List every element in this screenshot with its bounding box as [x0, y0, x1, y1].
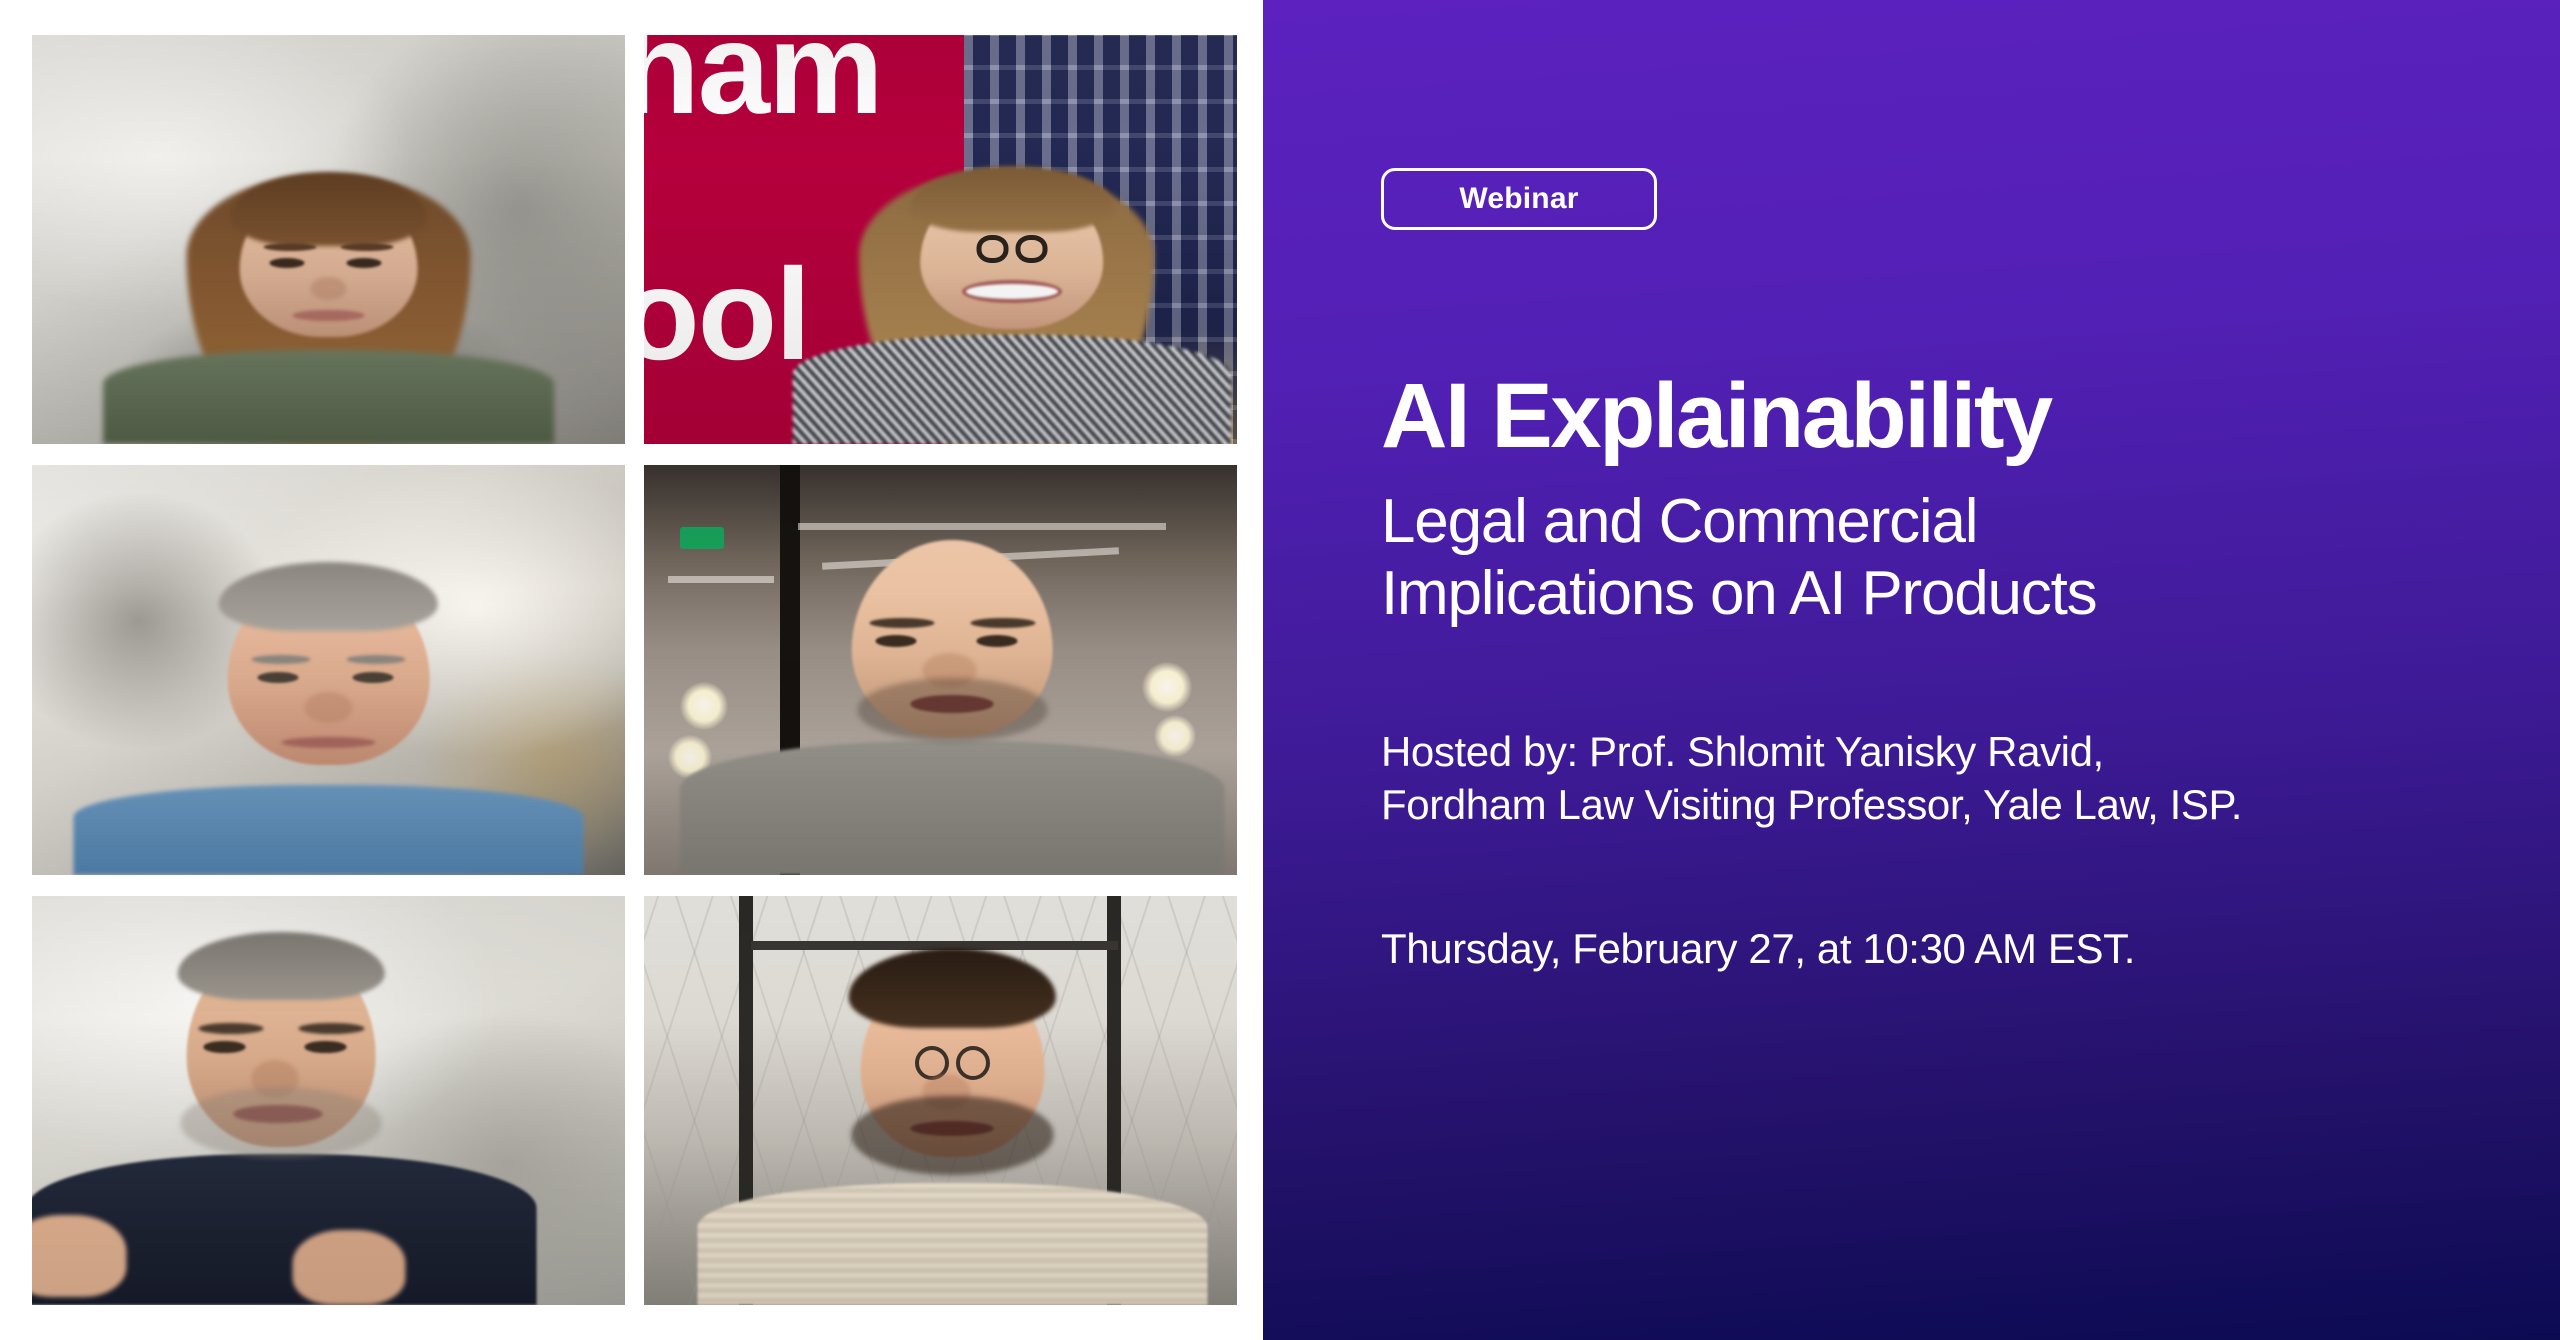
- torso: [680, 741, 1226, 875]
- brow-left: [251, 655, 310, 664]
- hair-top: [849, 948, 1057, 1027]
- beard: [857, 678, 1047, 741]
- webinar-badge[interactable]: Webinar: [1381, 168, 1657, 230]
- tile-1-participant: [32, 109, 625, 445]
- hair-top: [219, 562, 438, 631]
- video-tile-6[interactable]: [644, 896, 1237, 1305]
- video-tile-1[interactable]: [32, 35, 625, 444]
- video-grid: ham ool: [32, 35, 1237, 1305]
- tile-5-participant: [32, 928, 578, 1305]
- event-title: AI Explainability: [1381, 370, 2460, 462]
- host-info: Hosted by: Prof. Shlomit Yanisky Ravid, …: [1381, 726, 2460, 832]
- video-tile-5[interactable]: [32, 896, 625, 1305]
- lens-left: [976, 235, 1008, 263]
- eye-left: [875, 635, 917, 647]
- eye-left: [257, 672, 299, 683]
- hair-top: [910, 166, 1114, 233]
- lens-right: [956, 1046, 990, 1080]
- hand-left: [32, 1215, 127, 1298]
- tile-3-participant: [32, 531, 625, 875]
- torso: [103, 350, 554, 444]
- brow-left: [869, 618, 934, 629]
- torso: [697, 1183, 1207, 1305]
- speaker-video-panel: ham ool: [0, 0, 1263, 1340]
- webinar-promo-graphic: ham ool: [0, 0, 2560, 1340]
- brow-right: [346, 655, 405, 664]
- torso: [74, 785, 584, 874]
- event-datetime: Thursday, February 27, at 10:30 AM EST.: [1381, 924, 2460, 974]
- eye-right: [976, 635, 1018, 647]
- video-tile-4[interactable]: [644, 465, 1237, 874]
- tile-2-participant: [757, 141, 1237, 444]
- hand-right: [293, 1230, 406, 1305]
- host-line-1: Hosted by: Prof. Shlomit Yanisky Ravid,: [1381, 726, 2460, 779]
- eyeglasses: [976, 235, 1047, 263]
- torso: [792, 335, 1231, 444]
- nose: [305, 692, 352, 723]
- beard: [180, 1087, 382, 1159]
- event-subtitle-line2: Implications on AI Products: [1381, 558, 2460, 630]
- tile-6-participant: [656, 945, 1237, 1305]
- lens-right: [1015, 235, 1047, 263]
- video-tile-2[interactable]: ham ool: [644, 35, 1237, 444]
- video-tile-3[interactable]: [32, 465, 625, 874]
- beard: [852, 1096, 1054, 1175]
- eye-right: [352, 672, 394, 683]
- banner-text-line1: ham: [644, 35, 882, 127]
- mouth: [293, 310, 364, 321]
- hair-top: [177, 932, 385, 1000]
- host-line-2: Fordham Law Visiting Professor, Yale Law…: [1381, 779, 2460, 832]
- event-subtitle-line1: Legal and Commercial: [1381, 486, 2460, 558]
- event-subtitle: Legal and Commercial Implications on AI …: [1381, 486, 2460, 630]
- tile-4-participant: [656, 523, 1237, 875]
- event-info-panel: Webinar AI Explainability Legal and Comm…: [1263, 0, 2560, 1340]
- brow-right: [970, 618, 1035, 629]
